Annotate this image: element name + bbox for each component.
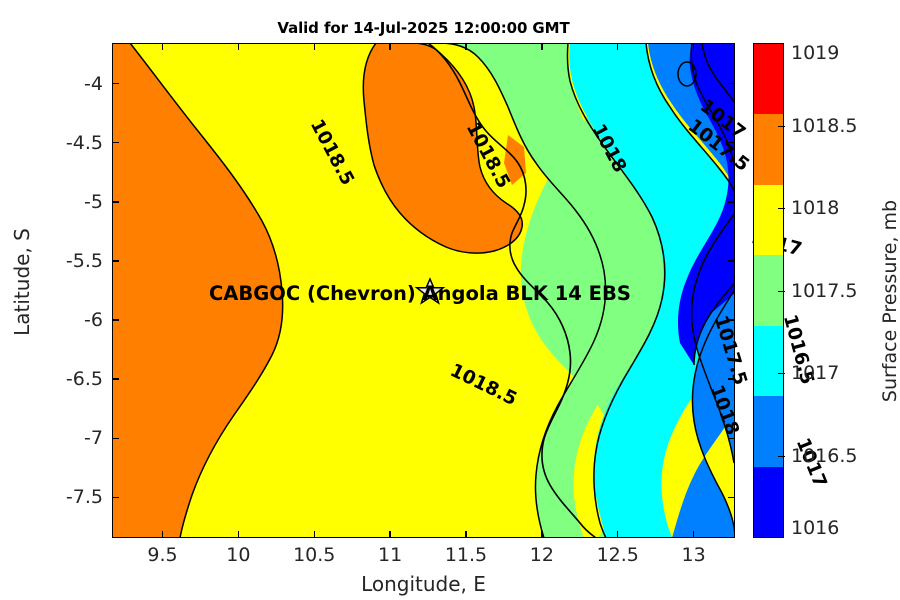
colorbar-tick-label: 1018 [791, 197, 839, 219]
y-tickmark [112, 438, 119, 439]
colorbar-tick-label: 1016.5 [791, 445, 857, 467]
x-tickmark [389, 43, 390, 50]
x-tickmark [693, 531, 694, 538]
y-tickmark [112, 142, 119, 143]
y-tick-label: -4 [0, 73, 103, 95]
x-tickmark [541, 531, 542, 538]
y-tickmark [112, 260, 119, 261]
x-tickmark [314, 531, 315, 538]
x-tick-label: 9.5 [147, 544, 177, 566]
colorbar-band [754, 326, 783, 396]
colorbar-tickmark [778, 456, 785, 457]
x-axis-title: Longitude, E [112, 572, 735, 596]
y-tickmark [728, 497, 735, 498]
y-tickmark [728, 260, 735, 261]
x-tickmark [617, 43, 618, 50]
colorbar-tick-label: 1017.5 [791, 280, 857, 302]
colorbar-tick-label: 1016 [791, 517, 839, 539]
x-tick-label: 13 [682, 544, 706, 566]
colorbar-tickmark [778, 373, 785, 374]
colorbar-tick-label: 1018.5 [791, 115, 857, 137]
figure-root: Valid for 14-Jul-2025 12:00:00 GMT [0, 0, 900, 600]
y-tickmark [728, 319, 735, 320]
y-tickmark [112, 83, 119, 84]
y-axis-title: Latitude, S [10, 182, 34, 382]
colorbar-band [754, 44, 783, 114]
x-tickmark [541, 43, 542, 50]
figure-title: Valid for 14-Jul-2025 12:00:00 GMT [112, 19, 735, 37]
y-tickmark [112, 378, 119, 379]
y-tickmark [728, 142, 735, 143]
x-tickmark [314, 43, 315, 50]
contour-plot-area[interactable] [112, 43, 735, 538]
x-tick-label: 11 [378, 544, 402, 566]
x-tick-label: 11.5 [445, 544, 487, 566]
y-tickmark [728, 201, 735, 202]
y-tickmark [112, 201, 119, 202]
x-tickmark [238, 531, 239, 538]
x-tickmark [617, 531, 618, 538]
colorbar-tick-label: 1019 [791, 42, 839, 64]
x-tickmark [238, 43, 239, 50]
colorbar-tickmark [778, 291, 785, 292]
colorbar-title: Surface Pressure, mb [879, 181, 900, 421]
y-tickmark [728, 438, 735, 439]
y-tick-label: -7 [0, 427, 103, 449]
x-tick-label: 12.5 [597, 544, 639, 566]
x-tick-label: 10.5 [293, 544, 335, 566]
x-tick-label: 10 [226, 544, 250, 566]
y-tickmark [112, 497, 119, 498]
colorbar-band [754, 185, 783, 255]
y-tickmark [728, 378, 735, 379]
colorbar-tickmark [778, 126, 785, 127]
x-tickmark [693, 43, 694, 50]
colorbar-tick-label: 1017 [791, 362, 839, 384]
x-tickmark [465, 43, 466, 50]
x-tickmark [465, 531, 466, 538]
colorbar-band [754, 467, 783, 537]
x-tickmark [162, 43, 163, 50]
x-tickmark [162, 531, 163, 538]
y-tickmark [112, 319, 119, 320]
y-tickmark [728, 83, 735, 84]
contour-svg [112, 43, 735, 538]
x-tick-label: 12 [530, 544, 554, 566]
y-tick-label: -4.5 [0, 132, 103, 154]
x-tickmark [389, 531, 390, 538]
y-tick-label: -7.5 [0, 486, 103, 508]
colorbar-tickmark [778, 208, 785, 209]
